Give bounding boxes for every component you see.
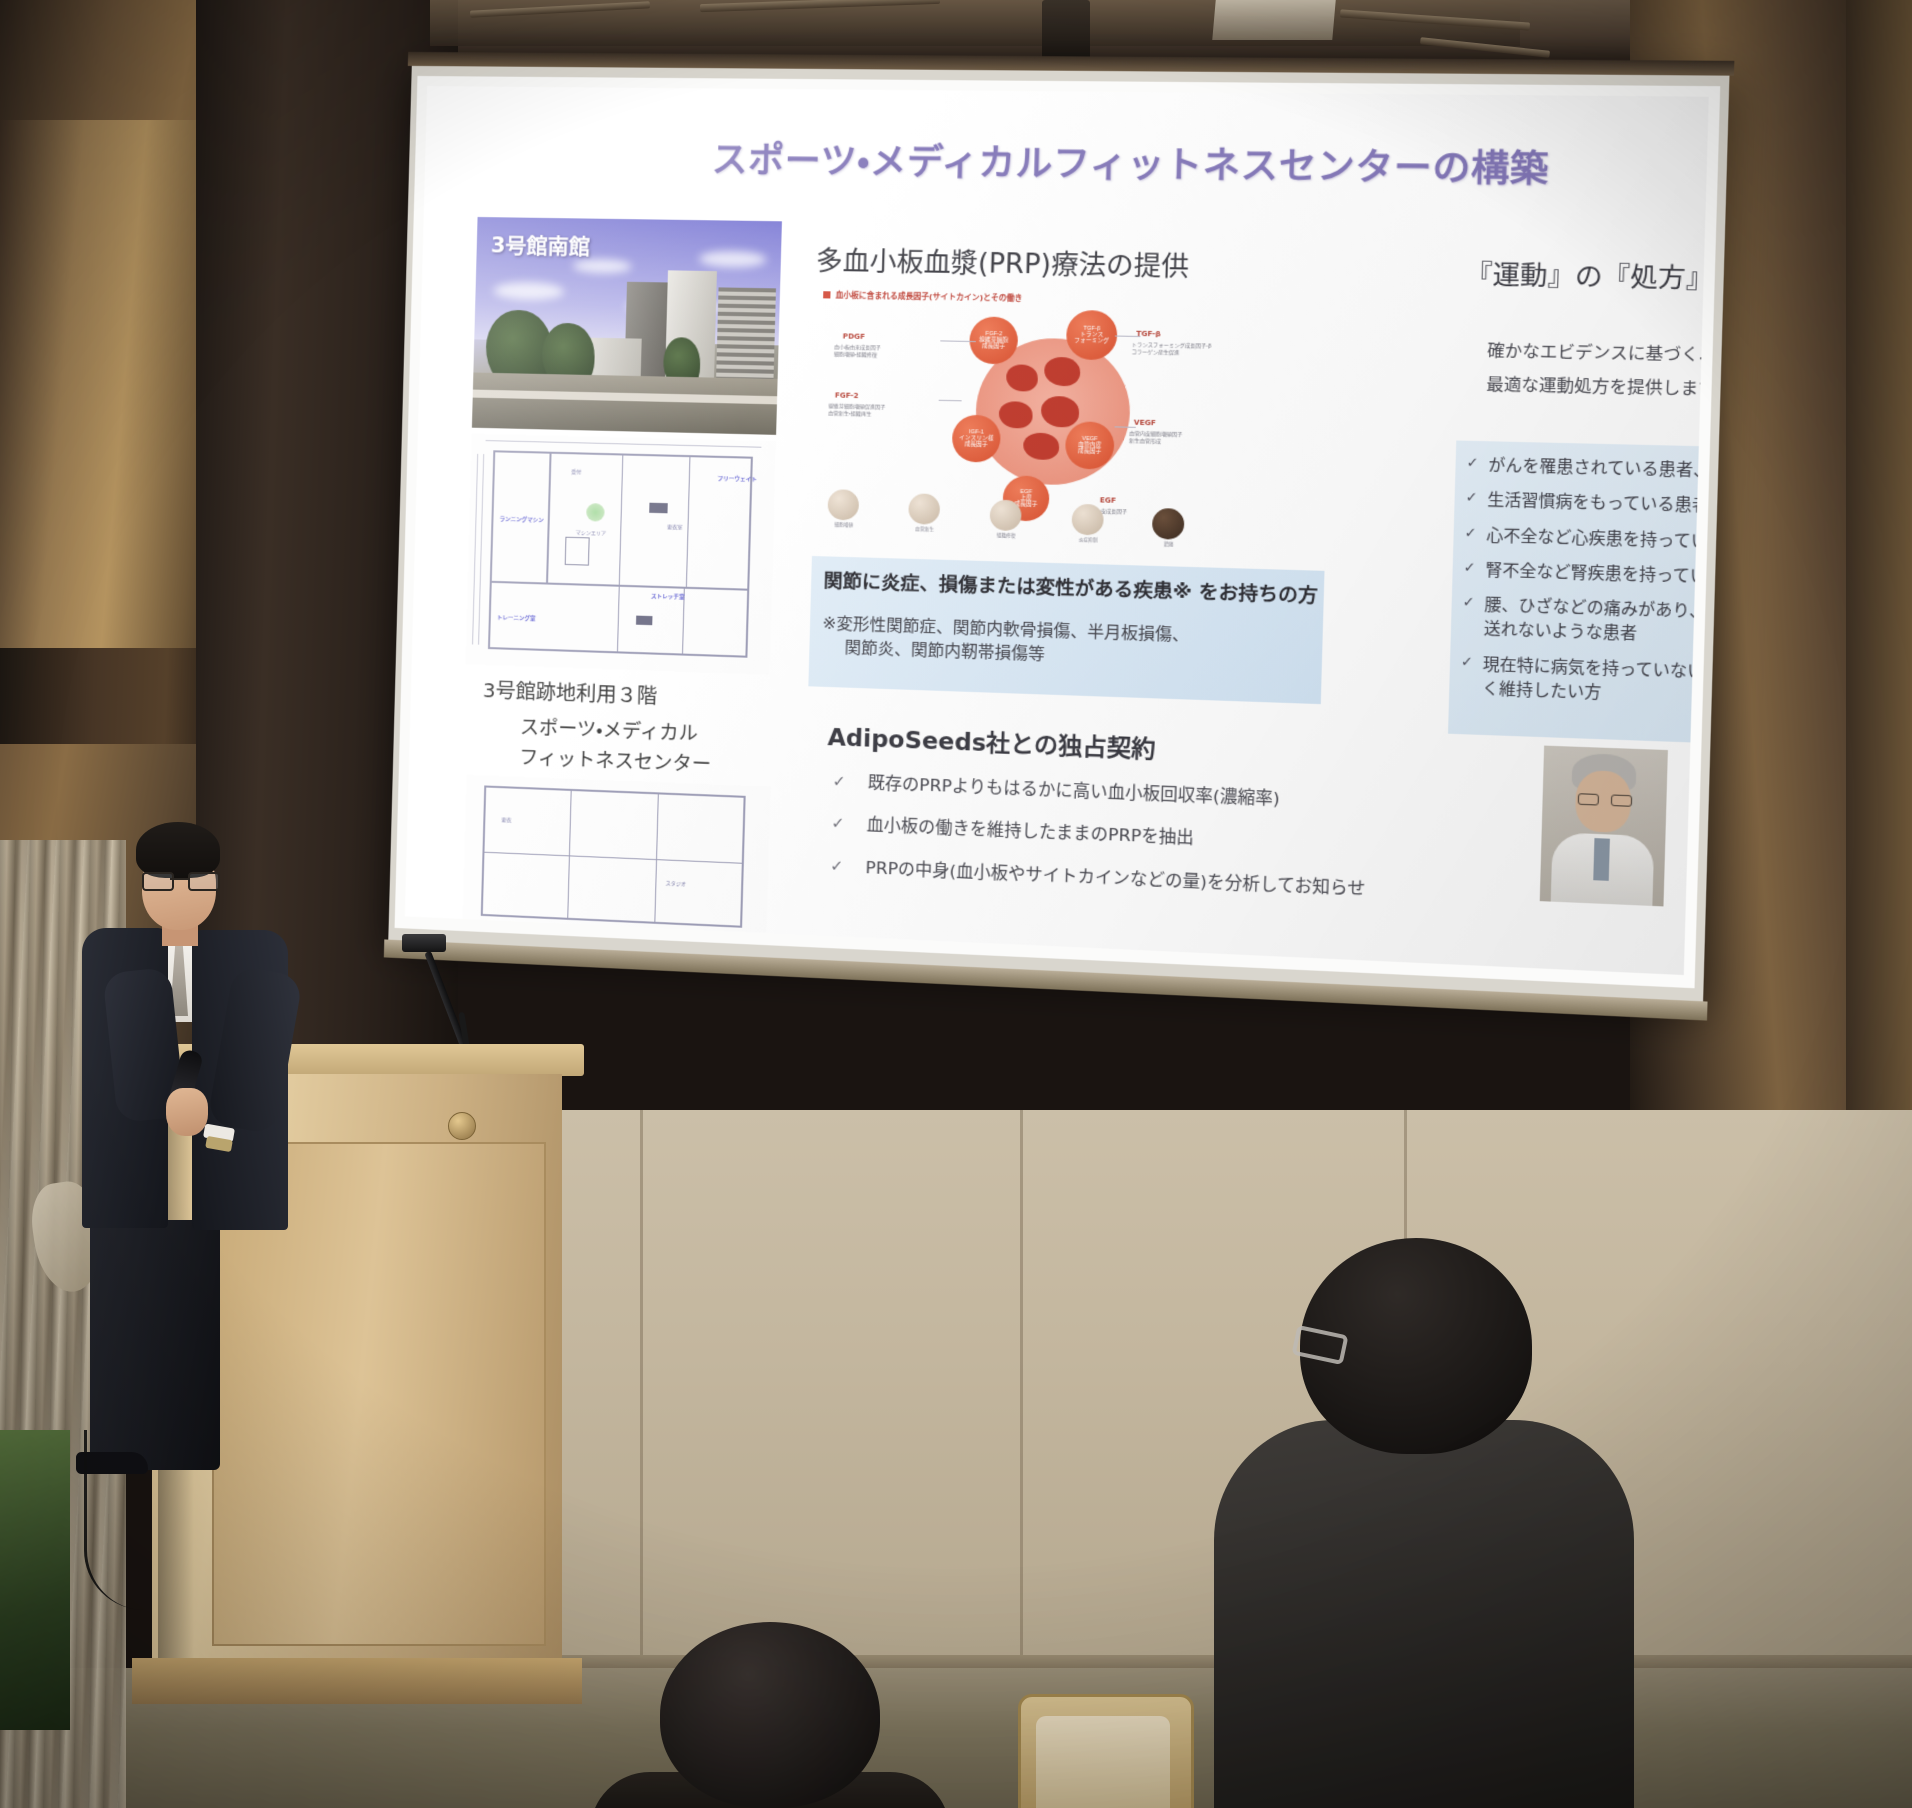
floor-cable — [84, 1430, 207, 1610]
list-item: ✓ 腰、ひざなどの痛みがあり、十分に日常生活を送れないような患者 — [1459, 593, 1708, 654]
target-patients-list: ✓ がんを罹患されている患者、回復した患者 ✓ 生活習慣病をもっている患者 ✓ … — [1457, 453, 1708, 724]
list-item: ✓ 血小板の働きを維持したままのPRPを抽出 — [825, 813, 1376, 858]
check-icon: ✓ — [1464, 523, 1476, 544]
node-tgf: TGF-βトランスフォーミング — [1066, 310, 1118, 360]
plan-highlight — [586, 503, 605, 522]
benefit-icon — [827, 489, 859, 520]
lectern-base — [132, 1658, 582, 1704]
audience-head-front — [660, 1622, 880, 1808]
check-icon: ✓ — [832, 772, 846, 792]
prp-cytokine-diagram: 血小板に含まれる成長因子(サイトカイン)とその働き FGF-2線維芽細胞成長因子… — [817, 289, 1319, 543]
window-foliage-view — [0, 1430, 70, 1730]
floorplan-caption-line1: 3号館跡地利用３階 — [482, 674, 657, 709]
presenter-hair — [136, 822, 220, 878]
list-item-label: がんを罹患されている患者、回復した患者 — [1488, 456, 1709, 483]
list-item-label: 生活習慣病をもっている患者 — [1487, 491, 1709, 516]
projection-screen: スポーツ・メディカルフィットネスセンターの構築 3号館南館 — [388, 64, 1729, 1006]
microphone-base — [402, 934, 446, 952]
slide-title: スポーツ・メディカルフィットネスセンターの構築 — [711, 131, 1627, 194]
adiposeeds-list: ✓ 既存のPRPよりもはるかに高い血小板回収率(濃縮率) ✓ 血小板の働きを維持… — [823, 771, 1377, 922]
portrait-glasses-right — [1611, 794, 1632, 806]
portrait-glasses-left — [1578, 793, 1599, 805]
exercise-prescription-heading: 『運動』の『処方』 — [1465, 254, 1704, 296]
glasses-bridge — [170, 878, 190, 880]
indication-title: 関節に炎症、損傷または変性がある疾患※ をお持ちの方 — [823, 567, 1318, 609]
list-item-label: 現在特に病気を持っていないが、健康な体を長く維持したい方 — [1482, 655, 1709, 702]
check-icon: ✓ — [1466, 453, 1478, 474]
ceiling-duct — [1212, 0, 1335, 40]
wall-seam — [1020, 1110, 1023, 1670]
glasses-lens-right — [188, 872, 220, 891]
adiposeeds-heading: AdipoSeeds社との独占契約 — [827, 718, 1156, 765]
audience-body-right — [1214, 1420, 1634, 1808]
presenter-glasses — [142, 872, 218, 888]
presenter-hand — [166, 1088, 208, 1136]
list-item: ✓ がんを罹患されている患者、回復した患者 — [1464, 453, 1709, 487]
check-icon: ✓ — [1462, 593, 1474, 614]
right-wall-edge — [1846, 0, 1912, 1150]
legend-square — [823, 291, 830, 298]
presentation-slide: スポーツ・メディカルフィットネスセンターの構築 3号館南館 — [405, 86, 1709, 975]
list-item-label: 腰、ひざなどの痛みがあり、十分に日常生活を送れないような患者 — [1483, 595, 1708, 643]
diagram-title: 血小板に含まれる成長因子(サイトカイン)とその働き — [835, 289, 1022, 304]
list-item: ✓ 生活習慣病をもっている患者 — [1463, 488, 1709, 523]
floor-plan-upper: ランニングマシン ストレッチ室 フリーウェイト トレーニング室 マシンエリア 更… — [466, 434, 776, 675]
floorplan-caption-line2: スポーツ・メディカル — [520, 712, 699, 746]
list-item-label: 血小板の働きを維持したままのPRPを抽出 — [866, 815, 1194, 848]
photo-scene: スポーツ・メディカルフィットネスセンターの構築 3号館南館 — [0, 0, 1912, 1808]
doctor-portrait — [1540, 746, 1668, 907]
prp-heading: 多血小板血漿(PRP)療法の提供 — [815, 240, 1189, 284]
list-item: ✓ 既存のPRPよりもはるかに高い血小板回収率(濃縮率) — [826, 771, 1377, 815]
indication-note: ※変形性関節症、関節内軟骨損傷、半月板損傷、 関節炎、関節内靭帯損傷等 — [822, 611, 1190, 671]
benefit-icon — [1071, 504, 1104, 536]
building-photo-label: 3号館南館 — [490, 229, 590, 261]
lectern-emblem — [448, 1112, 476, 1140]
check-icon: ✓ — [1463, 558, 1475, 579]
list-item: ✓ PRPの中身(血小板やサイトカインなどの量)を分析してお知らせ — [824, 855, 1375, 901]
list-item-label: 心不全など心疾患を持っている患者 — [1486, 526, 1709, 552]
presenter — [70, 820, 320, 1510]
list-item: ✓ 現在特に病気を持っていないが、健康な体を長く維持したい方 — [1458, 652, 1709, 714]
benefit-icon — [908, 493, 940, 525]
check-icon: ✓ — [830, 856, 844, 876]
audience-chair-cushion — [1036, 1716, 1170, 1808]
target-patients-box: ✓ がんを罹患されている患者、回復した患者 ✓ 生活習慣病をもっている患者 ✓ … — [1448, 441, 1709, 749]
check-icon: ✓ — [1465, 488, 1477, 509]
list-item: ✓ 心不全など心疾患を持っている患者 — [1462, 523, 1709, 558]
list-item-label: 腎不全など腎疾患を持っている患者 — [1485, 561, 1709, 588]
indication-box: 関節に炎症、損傷または変性がある疾患※ をお持ちの方 ※変形性関節症、関節内軟骨… — [808, 556, 1324, 704]
evidence-text: 確かなエビデンスに基づく、一人一人に 最適な運動処方を提供します。 — [1486, 334, 1709, 409]
glasses-lens-left — [142, 872, 174, 891]
floor-plan-lower: スタジオ 更衣 — [462, 775, 770, 939]
list-item-label: PRPの中身(血小板やサイトカインなどの量)を分析してお知らせ — [865, 858, 1365, 899]
floorplan-caption-line3: フィットネスセンター — [519, 743, 712, 778]
check-icon: ✓ — [1461, 652, 1473, 673]
wall-seam — [640, 1110, 643, 1670]
portrait-tie — [1593, 838, 1610, 881]
list-item: ✓ 腎不全など腎疾患を持っている患者 — [1461, 558, 1709, 594]
building-photo: 3号館南館 — [472, 217, 782, 435]
benefit-icon — [1152, 508, 1185, 540]
evidence-line2: 最適な運動処方を提供します。 — [1486, 368, 1709, 409]
list-item-label: 既存のPRPよりもはるかに高い血小板回収率(濃縮率) — [868, 773, 1281, 809]
benefit-icon — [989, 500, 1021, 532]
check-icon: ✓ — [831, 814, 845, 834]
photo-ground — [472, 373, 778, 435]
